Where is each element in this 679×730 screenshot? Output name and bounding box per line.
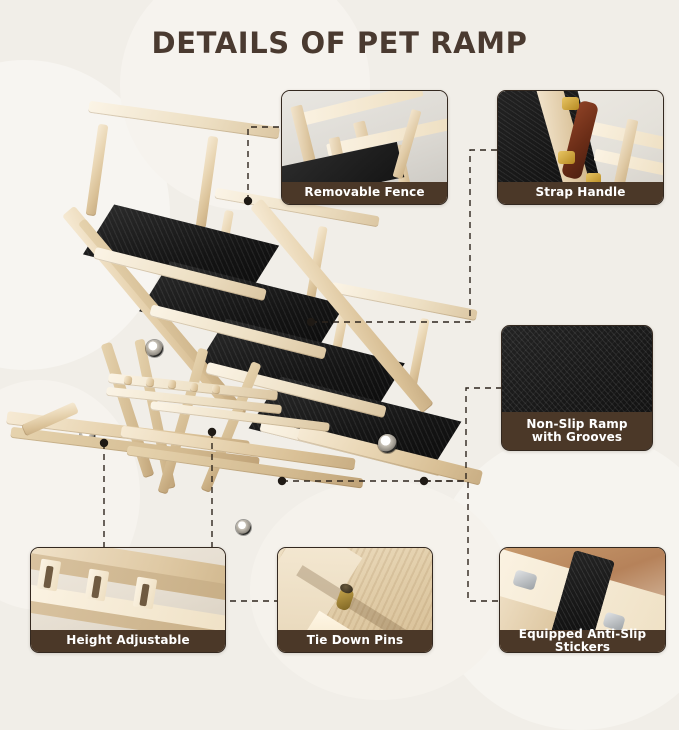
callout-label-removable-fence: Removable Fence: [282, 182, 447, 204]
callout-card-strap-handle[interactable]: Strap Handle: [497, 90, 664, 205]
callout-label-line-1: Non-Slip Ramp: [526, 418, 627, 431]
callout-label-tie-down-pins: Tie Down Pins: [278, 630, 432, 652]
callout-label-strap-handle: Strap Handle: [498, 182, 663, 204]
callout-card-removable-fence[interactable]: Removable Fence: [281, 90, 448, 205]
infographic-canvas: DETAILS OF PET RAMP: [0, 0, 679, 679]
callout-card-anti-slip-stickers[interactable]: Equipped Anti-Slip Stickers: [499, 547, 666, 653]
callout-card-non-slip-ramp[interactable]: Non-Slip Ramp with Grooves: [501, 325, 653, 451]
callout-label-line-2: with Grooves: [532, 431, 622, 444]
callout-label-anti-slip-stickers: Equipped Anti-Slip Stickers: [500, 630, 665, 652]
callout-card-tie-down-pins[interactable]: Tie Down Pins: [277, 547, 433, 653]
callout-card-height-adjustable[interactable]: Height Adjustable: [30, 547, 226, 653]
callout-label-height-adjustable: Height Adjustable: [31, 630, 225, 652]
callout-label-non-slip-ramp: Non-Slip Ramp with Grooves: [502, 412, 652, 450]
